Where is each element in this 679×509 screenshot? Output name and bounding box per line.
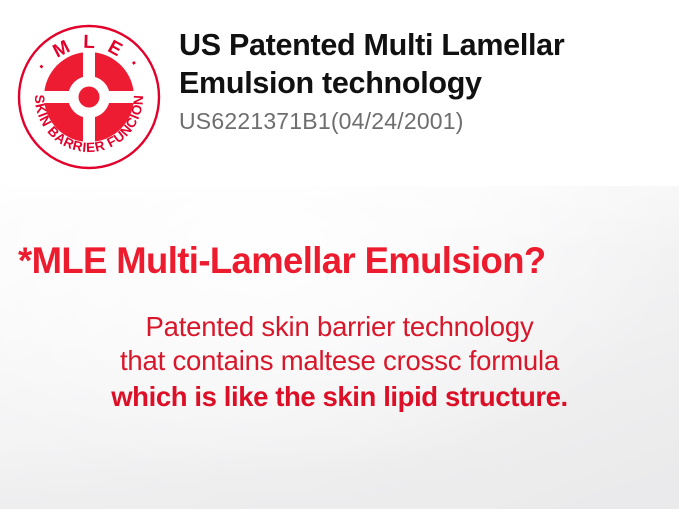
panel-body-line-bold: which is like the skin lipid structure. xyxy=(0,380,679,414)
mle-seal-logo: · M L E · SKIN BARRIER FUNCION xyxy=(17,24,161,170)
header-title-line-1: US Patented Multi Lamellar xyxy=(179,26,669,64)
panel-body-block: Patented skin barrier technology that co… xyxy=(0,310,679,414)
panel-body-line-1: Patented skin barrier technology xyxy=(0,310,679,344)
header-text-block: US Patented Multi Lamellar Emulsion tech… xyxy=(179,26,669,135)
promo-banner: · M L E · SKIN BARRIER FUNCION US Patent… xyxy=(0,0,679,509)
patent-number: US6221371B1(04/24/2001) xyxy=(179,107,669,135)
panel-body-line-2: that contains maltese crossc formula xyxy=(0,344,679,378)
header-section: · M L E · SKIN BARRIER FUNCION US Patent… xyxy=(0,0,679,186)
panel-text-section: *MLE Multi-Lamellar Emulsion? Patented s… xyxy=(0,186,679,509)
panel-headline: *MLE Multi-Lamellar Emulsion? xyxy=(18,241,651,281)
header-title-line-2: Emulsion technology xyxy=(179,64,669,102)
